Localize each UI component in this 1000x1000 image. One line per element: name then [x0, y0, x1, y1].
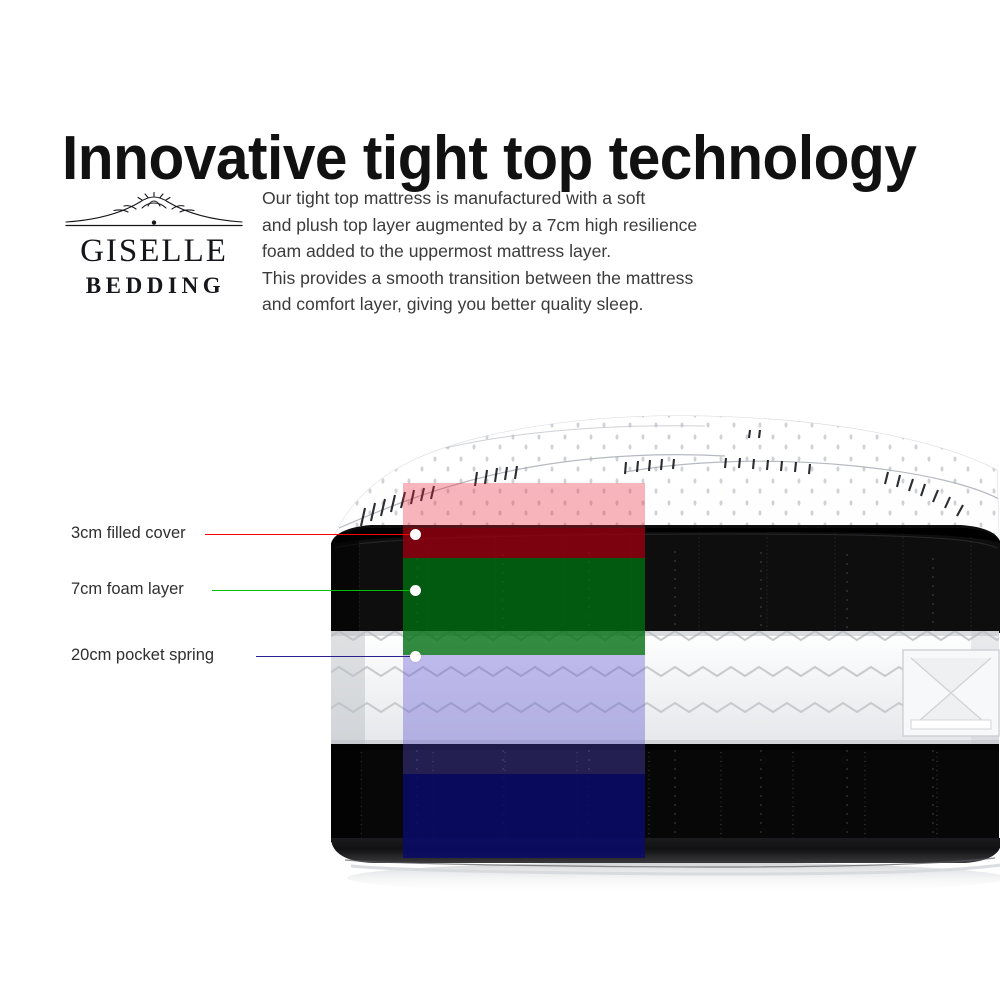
callout-dot-filled-cover [410, 529, 421, 540]
callout-dot-pocket-spring [410, 651, 421, 662]
highlight-band-filled-cover [403, 528, 645, 558]
product-infographic: Innovative tight top technology [0, 0, 1000, 1000]
highlight-band-pillow-top [403, 483, 645, 528]
mattress-handle-icon [903, 650, 999, 736]
callout-label-filled-cover: 3cm filled cover [71, 523, 186, 543]
highlight-band-base [403, 774, 645, 858]
callout-leader-line-filled-cover [205, 534, 416, 535]
highlight-band-pocket-spring [403, 655, 645, 774]
callout-leader-line-foam-layer [212, 590, 416, 591]
layer-highlight-overlay [403, 483, 645, 858]
callout-leader-line-pocket-spring [256, 656, 416, 657]
product-description: Our tight top mattress is manufactured w… [262, 185, 732, 318]
ornament-center-dot [152, 220, 156, 224]
description-line-5: and comfort layer, giving you better qua… [262, 291, 732, 318]
callout-label-pocket-spring: 20cm pocket spring [71, 645, 214, 665]
highlight-band-foam-layer [403, 558, 645, 655]
brand-name-primary: GISELLE [62, 233, 246, 269]
crown-flourish-ornament-icon [62, 192, 246, 232]
callout-dot-foam-layer [410, 585, 421, 596]
page-title: Innovative tight top technology [62, 126, 913, 192]
description-line-4: This provides a smooth transition betwee… [262, 265, 732, 292]
brand-name-secondary: BEDDING [65, 273, 246, 299]
description-line-3: foam added to the uppermost mattress lay… [262, 238, 732, 265]
callout-label-foam-layer: 7cm foam layer [71, 579, 184, 599]
description-line-2: and plush top layer augmented by a 7cm h… [262, 212, 732, 239]
description-line-1: Our tight top mattress is manufactured w… [262, 185, 732, 212]
brand-logo: GISELLE BEDDING [62, 192, 246, 299]
